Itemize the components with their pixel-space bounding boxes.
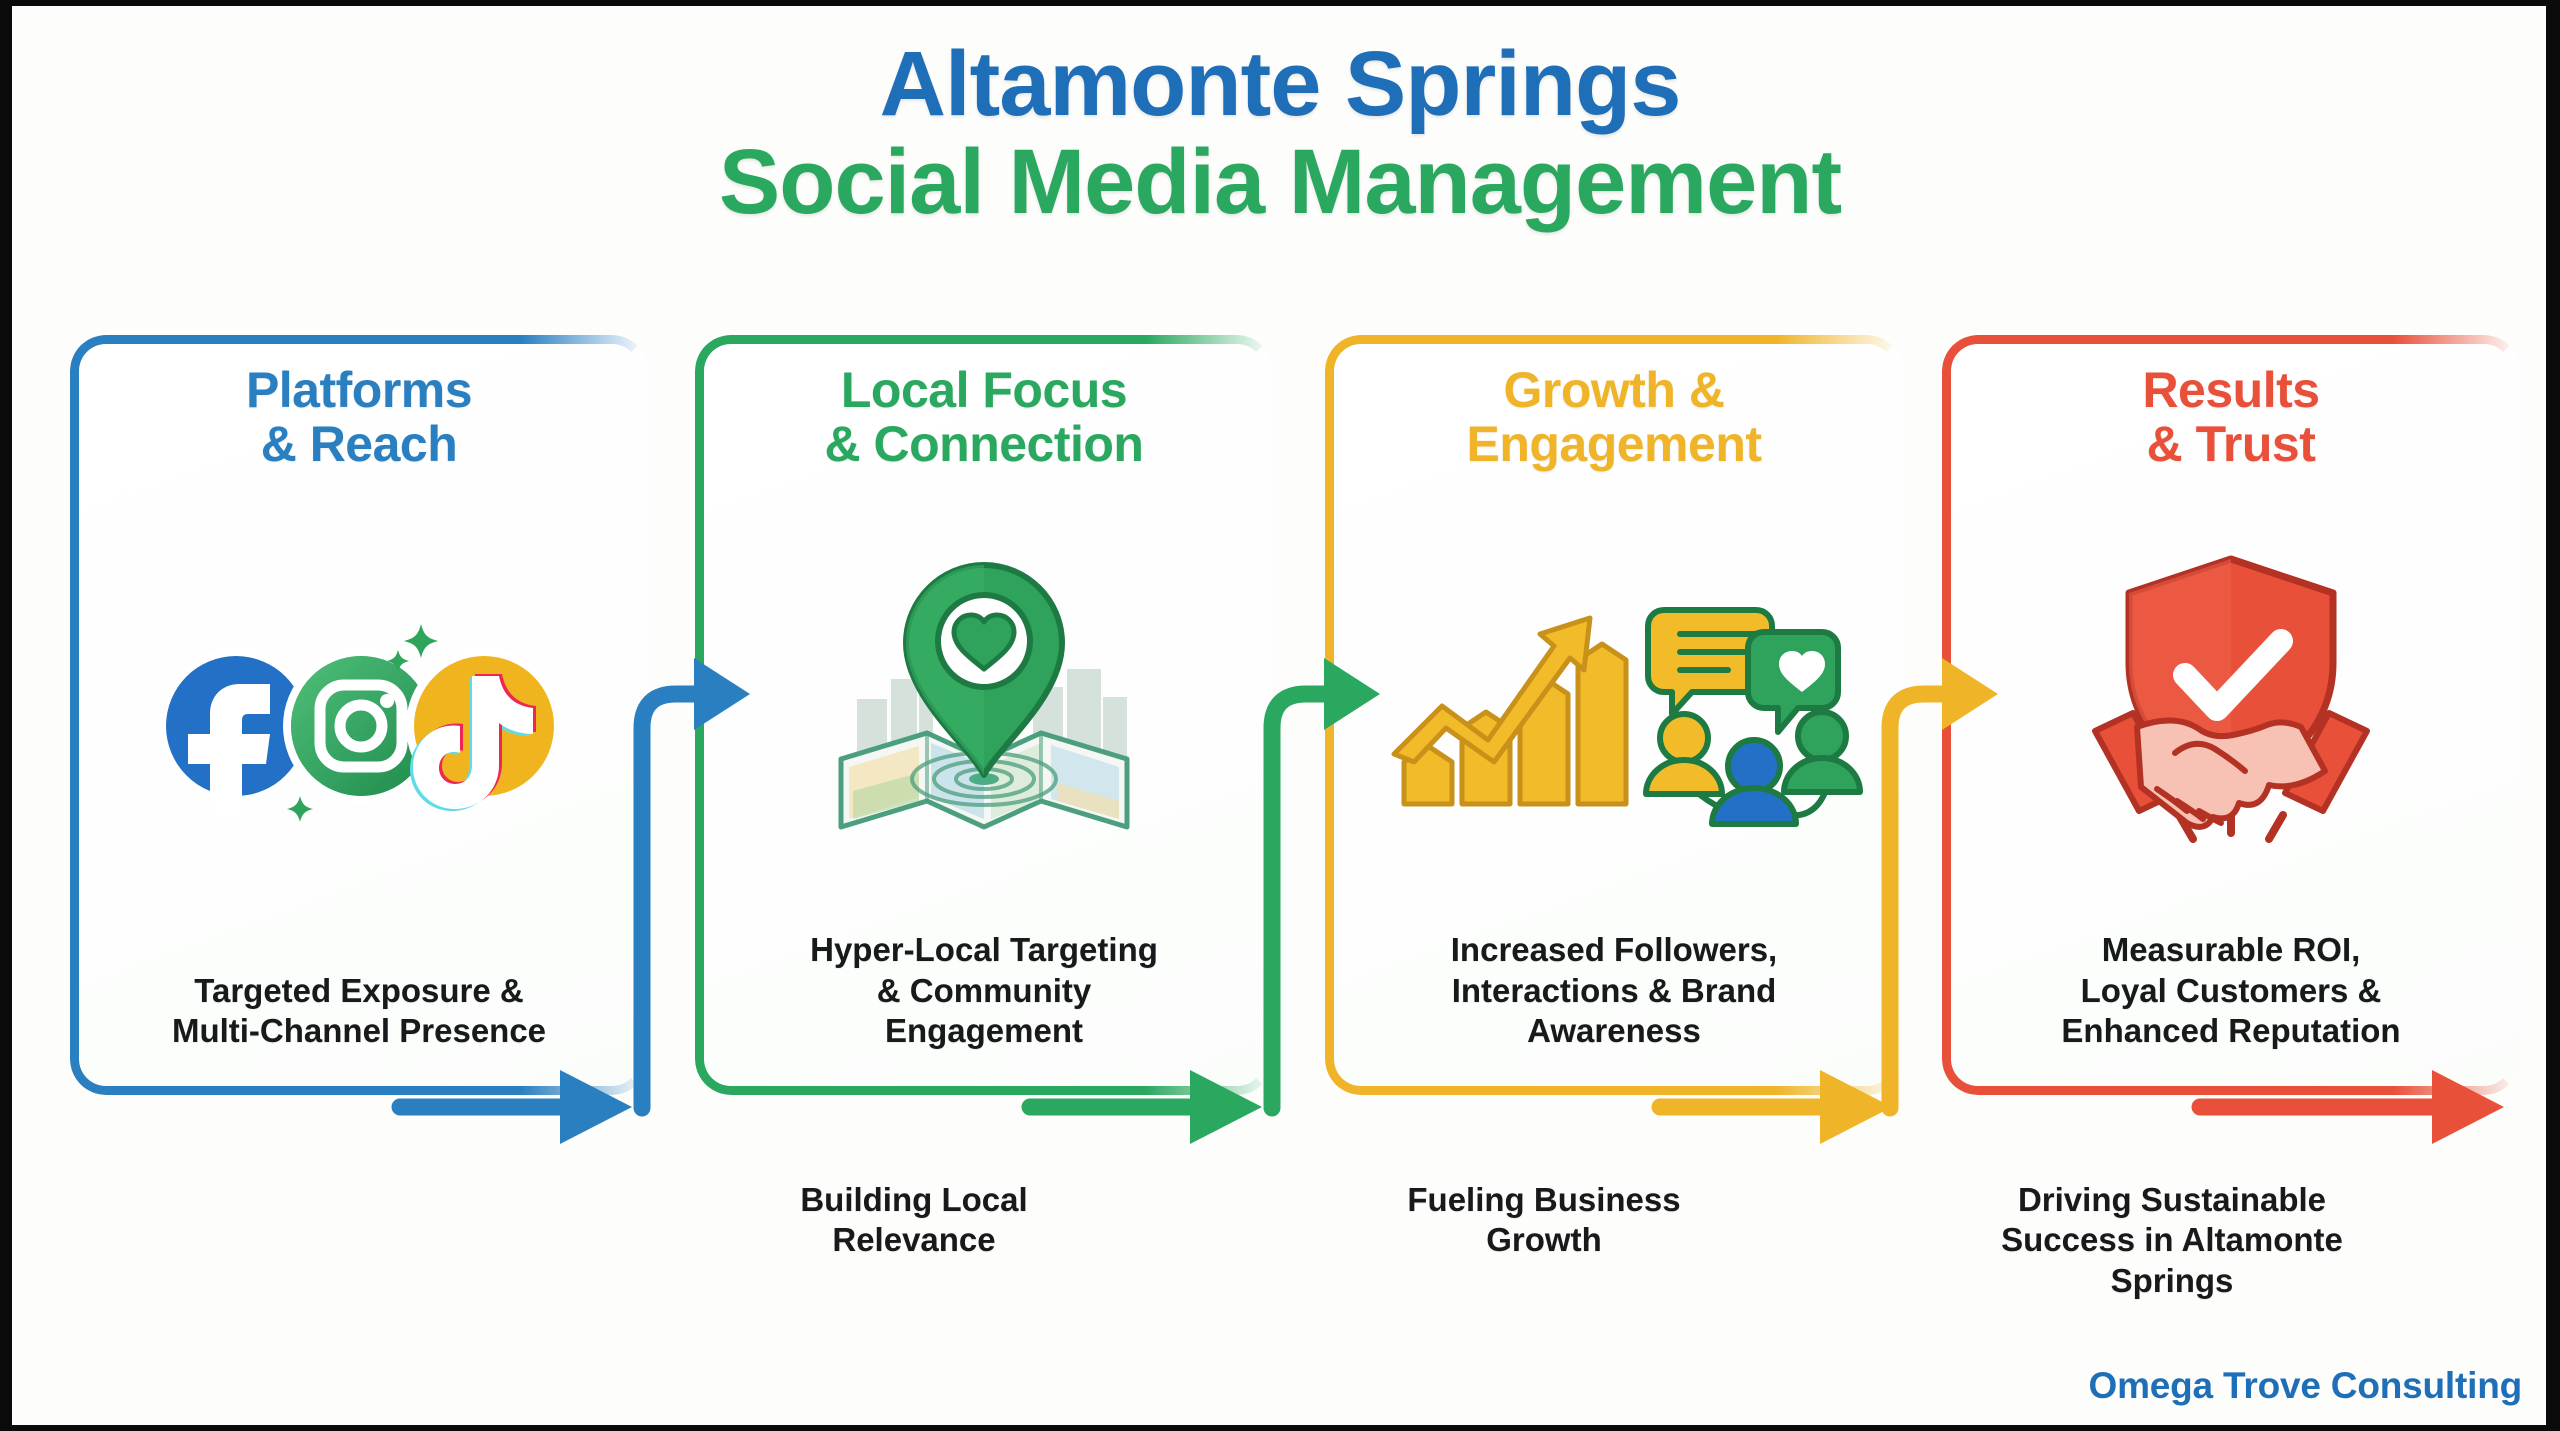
column-caption-local-focus: Hyper-Local Targeting & Community Engage… xyxy=(810,930,1158,1075)
frame-edge-bottom xyxy=(0,1425,2560,1431)
sub-label-building-local-relevance: Building Local Relevance xyxy=(625,1180,1203,1261)
column-results-trust: Results & Trust xyxy=(1942,335,2520,1095)
column-title-growth: Growth & Engagement xyxy=(1466,363,1761,471)
column-title-local-focus: Local Focus & Connection xyxy=(825,363,1144,471)
arrow-growth-bottom xyxy=(1660,1062,1910,1152)
infographic-canvas: Altamonte Springs Social Media Managemen… xyxy=(0,0,2560,1431)
map-pin-svg xyxy=(819,551,1149,851)
title-line-2: Social Media Management xyxy=(0,136,2560,230)
column-growth-engagement: Growth & Engagement xyxy=(1325,335,1903,1095)
people-group-icon xyxy=(1646,712,1860,824)
column-platforms-reach: Platforms & Reach xyxy=(70,335,648,1095)
frame-edge-top xyxy=(0,0,2560,6)
person-green xyxy=(1784,712,1860,792)
arrow-platforms-to-local xyxy=(628,608,758,1128)
arrow-results-out xyxy=(2200,1062,2520,1152)
column-local-focus: Local Focus & Connection xyxy=(695,335,1273,1095)
column-caption-platforms: Targeted Exposure & Multi-Channel Presen… xyxy=(172,971,546,1076)
frame-edge-right xyxy=(2546,0,2560,1431)
column-caption-results: Measurable ROI, Loyal Customers & Enhanc… xyxy=(2061,930,2400,1075)
icon-group-local-map xyxy=(721,471,1247,930)
column-title-platforms: Platforms & Reach xyxy=(246,363,472,471)
sub-label-driving-sustainable-success: Driving Sustainable Success in Altamonte… xyxy=(1872,1180,2472,1301)
growth-icons-svg xyxy=(1384,576,1844,826)
footer-brand: Omega Trove Consulting xyxy=(2089,1365,2523,1407)
page-title: Altamonte Springs Social Media Managemen… xyxy=(0,38,2560,230)
social-icons-svg xyxy=(144,606,574,836)
column-caption-growth: Increased Followers, Interactions & Bran… xyxy=(1451,930,1777,1075)
icon-group-growth xyxy=(1351,471,1877,930)
handshake-svg xyxy=(2081,669,2381,829)
icon-group-social-platforms xyxy=(96,471,622,971)
arrow-local-to-growth xyxy=(1258,608,1388,1128)
tiktok-icon xyxy=(406,648,562,811)
handshake-icon xyxy=(2095,713,2367,827)
title-line-1: Altamonte Springs xyxy=(0,38,2560,132)
arrow-local-bottom xyxy=(1030,1062,1280,1152)
arrow-growth-to-results xyxy=(1876,608,2006,1128)
column-title-results: Results & Trust xyxy=(2142,363,2319,471)
frame-edge-left xyxy=(0,0,12,1431)
sub-label-fueling-business-growth: Fueling Business Growth xyxy=(1255,1180,1833,1261)
person-yellow xyxy=(1646,714,1722,794)
icon-group-trust xyxy=(1968,471,2494,930)
arrow-platforms-bottom xyxy=(400,1062,650,1152)
